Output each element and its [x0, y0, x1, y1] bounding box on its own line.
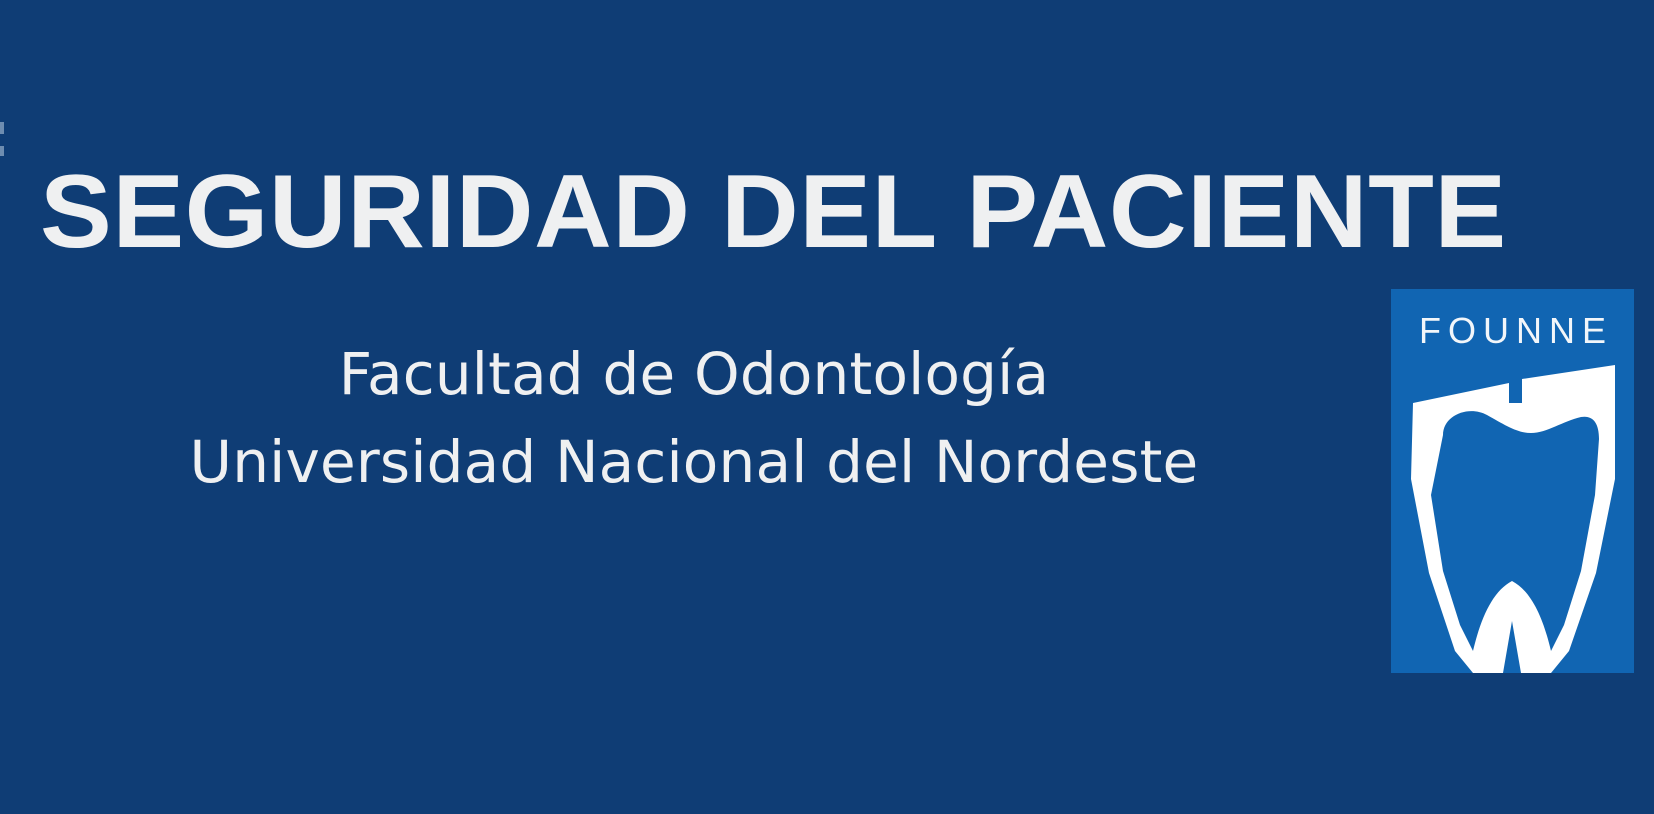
page-title: SEGURIDAD DEL PACIENTE	[40, 150, 1620, 274]
edge-artifact-bottom	[0, 146, 4, 156]
tooth-icon	[1391, 359, 1634, 673]
subtitle-line-faculty: Facultad de Odontología	[0, 330, 1388, 418]
edge-artifact-top	[0, 122, 4, 134]
page-title-text: SEGURIDAD DEL PACIENTE	[40, 160, 1507, 264]
presentation-slide: SEGURIDAD DEL PACIENTE Facultad de Odont…	[0, 0, 1654, 814]
founne-logo: FOUNNE	[1391, 289, 1634, 673]
subtitle-block: Facultad de Odontología Universidad Naci…	[0, 330, 1388, 506]
subtitle-line-university: Universidad Nacional del Nordeste	[0, 418, 1388, 506]
logo-wordmark: FOUNNE	[1391, 309, 1634, 353]
